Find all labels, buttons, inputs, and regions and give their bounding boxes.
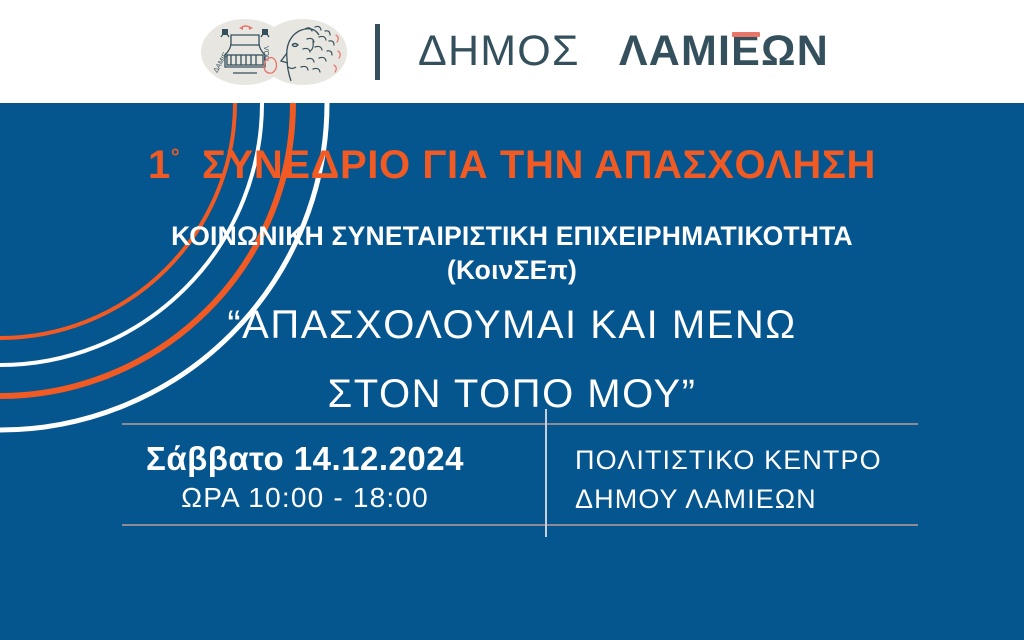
poster-body: 1° ΣΥΝΕΔΡΙΟ ΓΙΑ ΤΗΝ ΑΠΑΣΧΟΛΗΣΗ ΚΟΙΝΩΝΙΚΗ…: [0, 103, 1024, 640]
brand-lamieon-text: ΛΑΜΙΕΩΝ: [619, 27, 829, 75]
brand-lamieon-epsilon: Ε: [731, 27, 761, 76]
divider-vertical: [545, 409, 547, 537]
slogan-line-2: ΣΤΟΝ ΤΟΠΟ ΜΟΥ”: [0, 360, 1024, 429]
brand-lamieon-prefix: ΛΑΜΙ: [619, 27, 731, 75]
event-poster: ΔΑΜΙΕ ΠΟΛ: [0, 0, 1024, 640]
lamia-municipality-crest-icon: ΔΑΜΙΕ ΠΟΛ: [195, 15, 353, 89]
event-slogan: “ΑΠΑΣΧΟΛΟΥΜΑΙ ΚΑΙ ΜΕΝΩ ΣΤΟΝ ΤΟΠΟ ΜΟΥ”: [0, 291, 1024, 429]
divider-bottom: [122, 524, 918, 526]
brand-dimos-text: ΔΗΜΟΣ: [418, 27, 580, 75]
event-venue: ΠΟΛΙΤΙΣΤΙΚΟ ΚΕΝΤΡΟ ΔΗΜΟΥ ΛΑΜΙΕΩΝ: [575, 441, 935, 519]
venue-line-2: ΔΗΜΟΥ ΛΑΜΙΕΩΝ: [575, 480, 935, 519]
slogan-line-1: “ΑΠΑΣΧΟΛΟΥΜΑΙ ΚΑΙ ΜΕΝΩ: [0, 291, 1024, 360]
header-brand-group: ΔΑΜΙΕ ΠΟΛ: [195, 15, 829, 89]
event-date: Σάββατο 14.12.2024: [90, 440, 520, 478]
subtitle: ΚΟΙΝΩΝΙΚΗ ΣΥΝΕΤΑΙΡΙΣΤΙΚΗ ΕΠΙΧΕΙΡΗΜΑΤΙΚΟΤ…: [0, 220, 1024, 288]
page-title: 1° ΣΥΝΕΔΡΙΟ ΓΙΑ ΤΗΝ ΑΠΑΣΧΟΛΗΣΗ: [0, 143, 1024, 188]
brand-lamieon-suffix: ΩΝ: [761, 27, 829, 75]
epsilon-accent-bar-icon: [732, 32, 760, 37]
title-ordinal-number: 1: [148, 143, 171, 187]
subtitle-line-2: (ΚοινΣΕπ): [0, 254, 1024, 288]
subtitle-line-1: ΚΟΙΝΩΝΙΚΗ ΣΥΝΕΤΑΙΡΙΣΤΙΚΗ ΕΠΙΧΕΙΡΗΜΑΤΙΚΟΤ…: [171, 221, 853, 251]
title-ordinal-symbol: °: [171, 144, 180, 169]
poster-header: ΔΑΜΙΕ ΠΟΛ: [0, 0, 1024, 103]
divider-top: [122, 423, 918, 425]
header-divider-icon: [375, 24, 380, 80]
venue-line-1: ΠΟΛΙΤΙΣΤΙΚΟ ΚΕΝΤΡΟ: [575, 441, 935, 480]
event-time: ΩΡΑ 10:00 - 18:00: [90, 482, 520, 514]
brand-title: ΔΗΜΟΣ ΛΑΜΙΕΩΝ: [418, 27, 829, 76]
event-datetime: Σάββατο 14.12.2024 ΩΡΑ 10:00 - 18:00: [90, 440, 520, 514]
title-main-text: ΣΥΝΕΔΡΙΟ ΓΙΑ ΤΗΝ ΑΠΑΣΧΟΛΗΣΗ: [202, 143, 876, 187]
